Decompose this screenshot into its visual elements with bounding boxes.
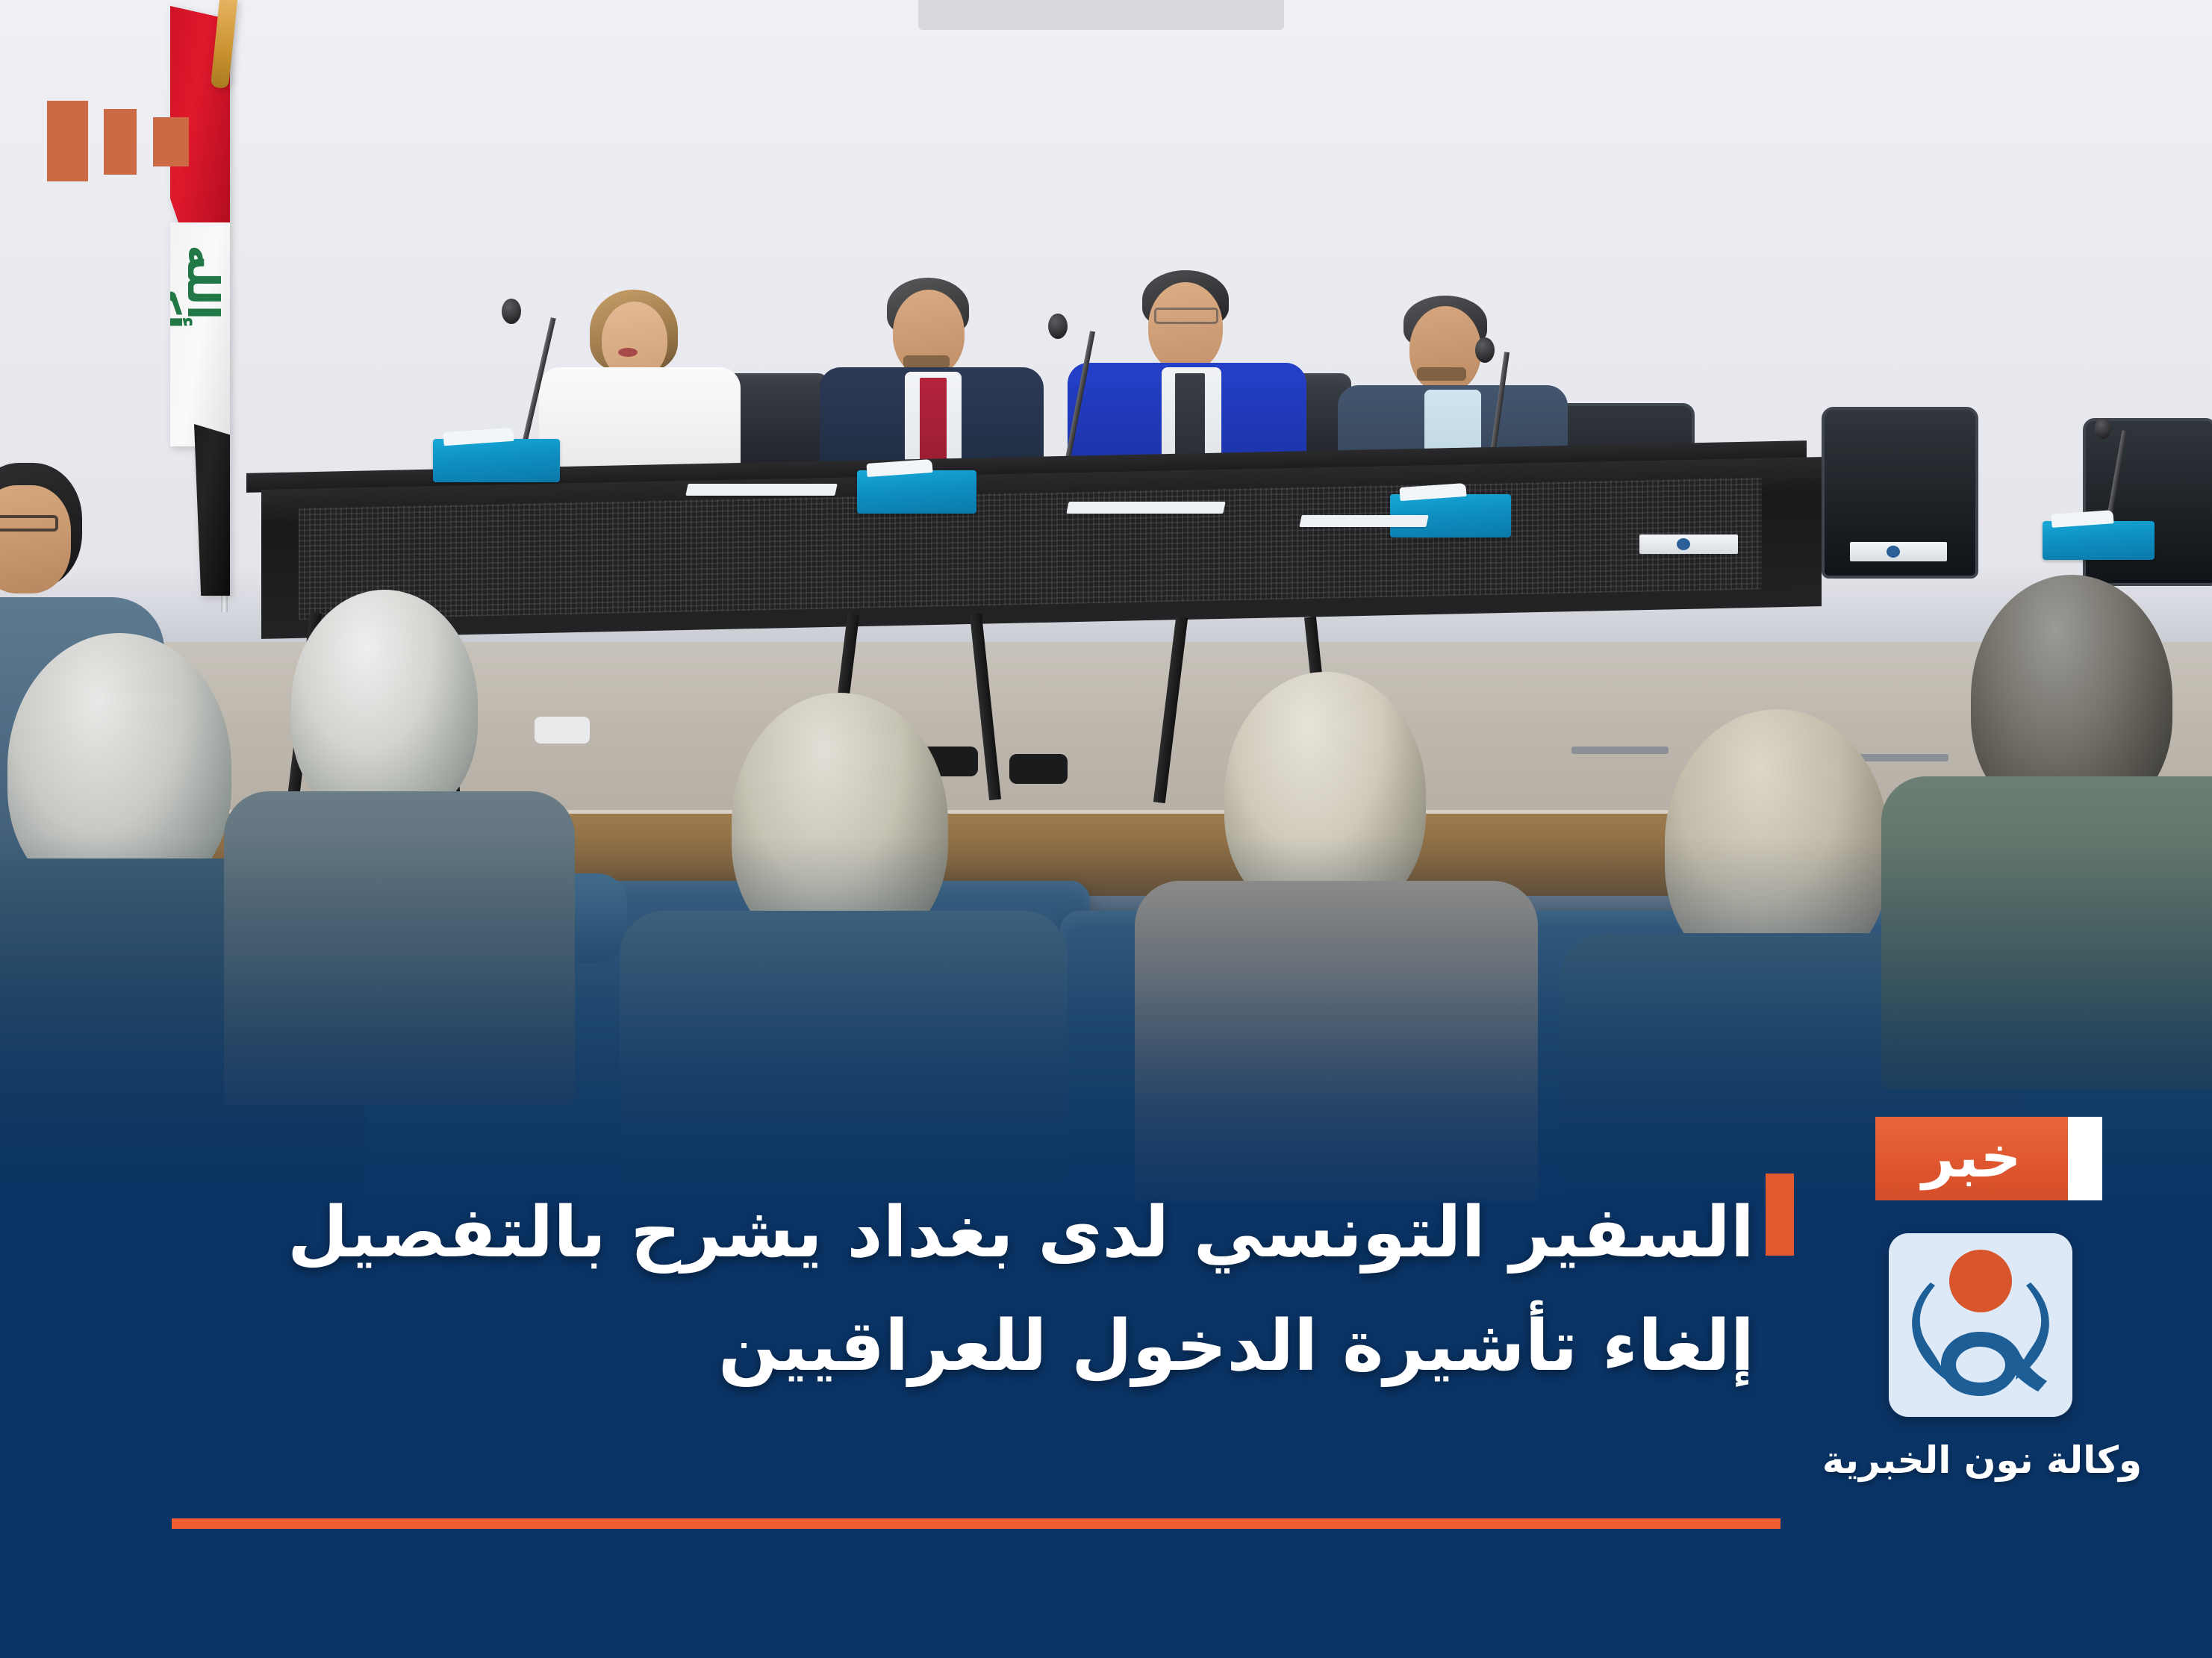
headline: السفير التونسي لدى بغداد يشرح بالتفصيل إ… (127, 1177, 1754, 1404)
chair-base (1571, 747, 1669, 754)
name-plate (1639, 535, 1738, 554)
tissue-box (2043, 521, 2155, 560)
corner-bar-2 (104, 109, 137, 175)
tissue-box (433, 439, 560, 482)
paper-sheet (1299, 515, 1428, 527)
microphone-head (1475, 337, 1495, 363)
microphone-head (1048, 314, 1068, 339)
shoe (1009, 754, 1068, 784)
news-photo: الله أكبر (0, 0, 2212, 1202)
news-badge-tab (2068, 1117, 2102, 1200)
news-card: الله أكبر (0, 0, 2212, 1658)
microphone-head (502, 299, 521, 324)
wall-panel (918, 0, 1284, 30)
eyeglasses-icon (0, 515, 58, 532)
corner-bar-3 (153, 117, 189, 166)
news-badge: خبر (1875, 1117, 2068, 1200)
paper-sheet (685, 484, 837, 496)
headline-line-1: السفير التونسي لدى بغداد يشرح بالتفصيل (127, 1177, 1754, 1290)
news-badge-label: خبر (1875, 1117, 2068, 1197)
agency-name: وكالة نون الخبرية (1807, 1438, 2158, 1483)
shoe (535, 717, 590, 744)
tissue-box (857, 470, 976, 514)
agency-logo-mark (1889, 1233, 2072, 1417)
microphone-head (2095, 418, 2111, 439)
agency-logo (1889, 1233, 2072, 1417)
eyeglasses-icon (1154, 308, 1218, 324)
headline-line-2: إلغاء تأشيرة الدخول للعراقيين (127, 1290, 1754, 1403)
brand-block: خبر وكالة نون الخبرية (1814, 1117, 2165, 1580)
empty-chair (2083, 418, 2212, 586)
corner-bar-1 (47, 101, 88, 181)
headline-accent-bar (1766, 1174, 1794, 1256)
headline-underline-rule (172, 1518, 1780, 1529)
paper-sheet (1066, 502, 1225, 514)
chair-base (1851, 754, 1948, 761)
corner-bars-decoration (0, 0, 224, 224)
name-plate (1850, 542, 1947, 561)
